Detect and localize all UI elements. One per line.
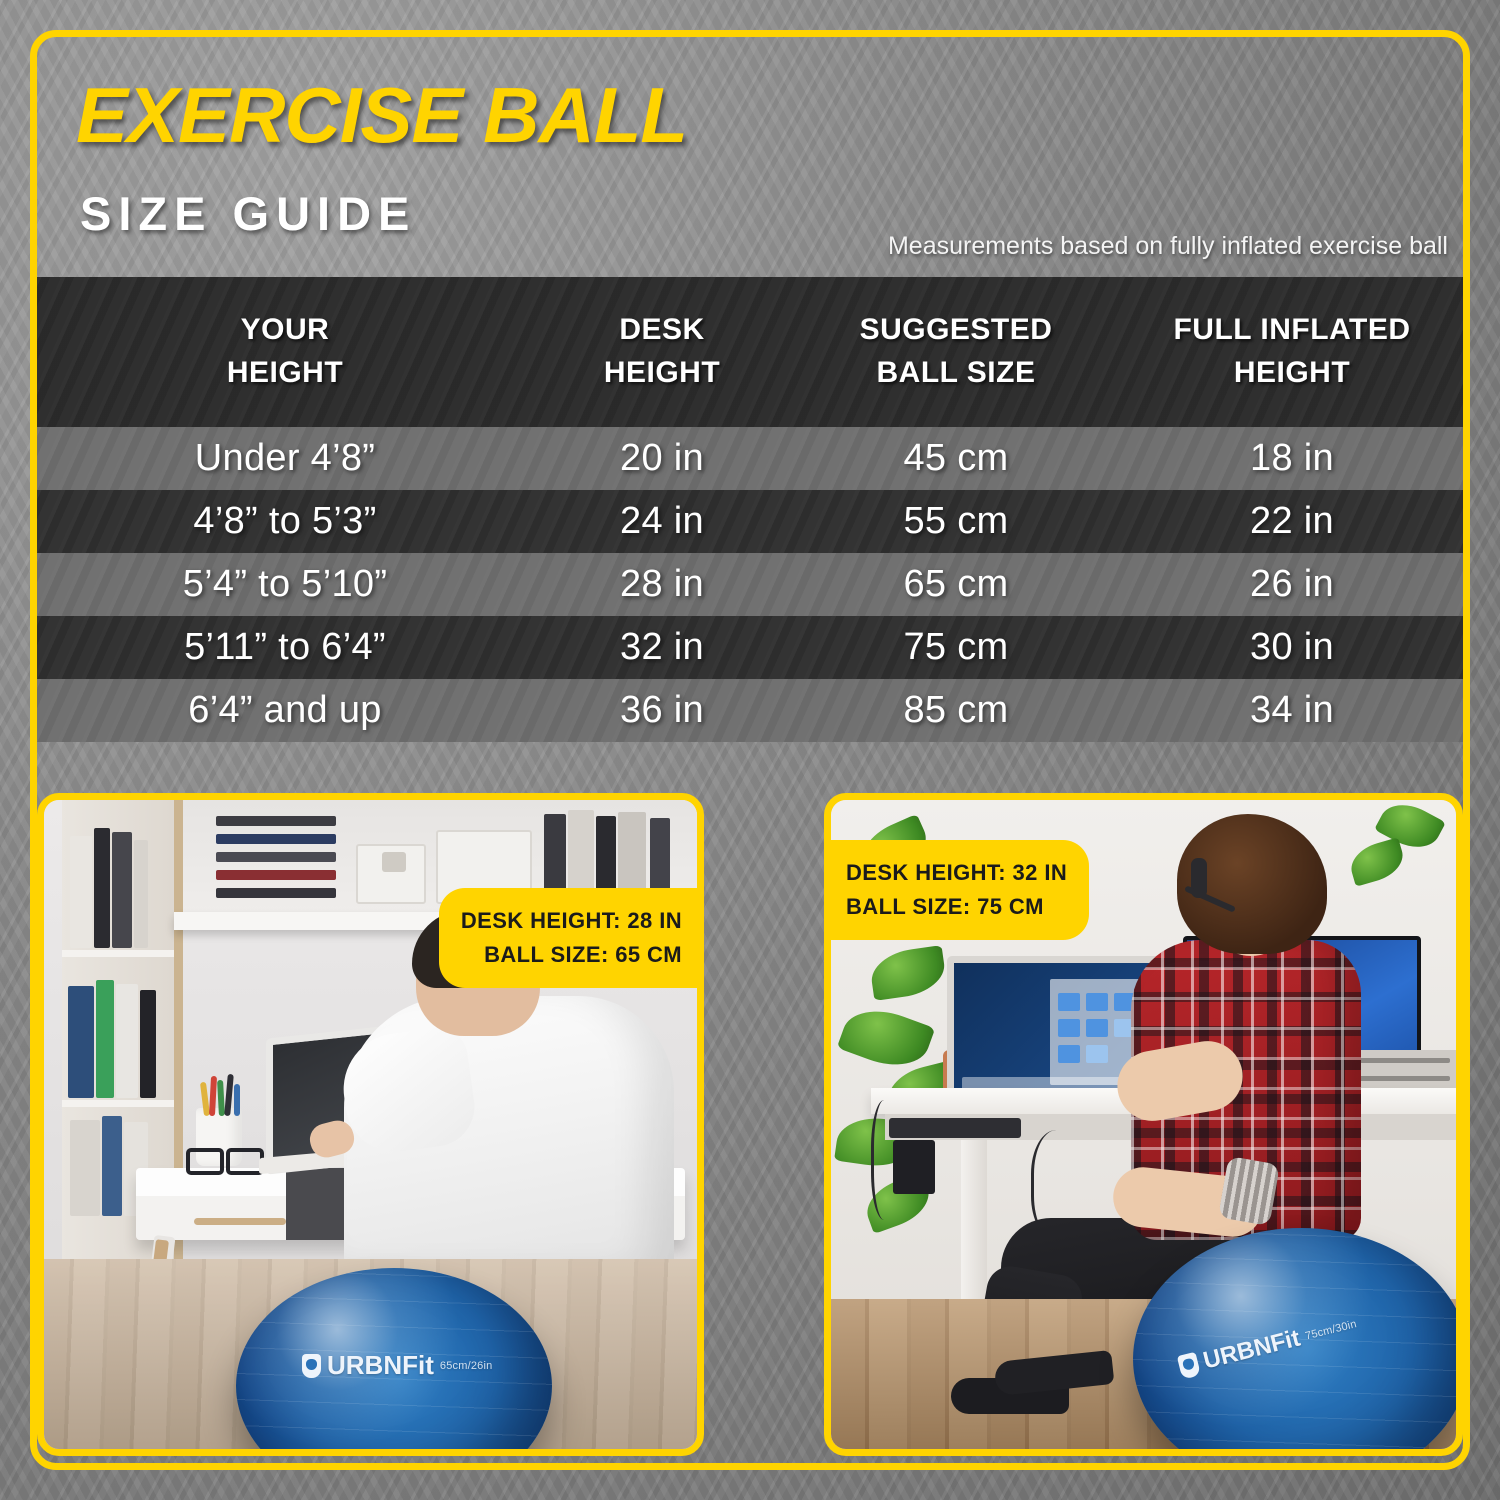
page-subtitle: SIZE GUIDE <box>80 186 416 241</box>
shield-icon <box>1177 1352 1201 1380</box>
callout-ball-size: BALL SIZE: 65 CM <box>461 938 682 972</box>
cell-ball-size: 85 cm <box>791 689 1121 732</box>
cell-your-height: 4’8” to 5’3” <box>37 500 533 543</box>
column-header-line1: SUGGESTED <box>791 309 1121 352</box>
cell-ball-size: 55 cm <box>791 500 1121 543</box>
callout-left: DESK HEIGHT: 28 IN BALL SIZE: 65 CM <box>439 888 704 988</box>
table-row: 6’4” and up 36 in 85 cm 34 in <box>37 679 1463 742</box>
ball-spec-text: 65cm/26in <box>440 1360 493 1372</box>
cell-desk-height: 24 in <box>533 500 791 543</box>
callout-ball-size: BALL SIZE: 75 CM <box>846 890 1067 924</box>
ball-spec-text: 75cm/30in <box>1304 1318 1358 1342</box>
ball-brand-text: URBNFit <box>327 1350 434 1381</box>
cell-your-height: 5’4” to 5’10” <box>37 563 533 606</box>
column-header-line1: DESK <box>533 309 791 352</box>
column-header-ball-size: SUGGESTED BALL SIZE <box>791 309 1121 394</box>
column-header-line2: BALL SIZE <box>791 352 1121 395</box>
table-row: 5’11” to 6’4” 32 in 75 cm 30 in <box>37 616 1463 679</box>
table-header-row: YOUR HEIGHT DESK HEIGHT SUGGESTED BALL S… <box>37 277 1463 427</box>
cell-desk-height: 28 in <box>533 563 791 606</box>
table-row: Under 4’8” 20 in 45 cm 18 in <box>37 427 1463 490</box>
cell-inflated-height: 30 in <box>1121 626 1463 669</box>
measurement-note: Measurements based on fully inflated exe… <box>888 232 1448 261</box>
cell-desk-height: 36 in <box>533 689 791 732</box>
cell-inflated-height: 18 in <box>1121 437 1463 480</box>
column-header-line1: YOUR <box>37 309 533 352</box>
column-header-line1: FULL INFLATED <box>1121 309 1463 352</box>
cell-inflated-height: 26 in <box>1121 563 1463 606</box>
ball-logo: URBNFit 75cm/30in <box>1176 1310 1360 1381</box>
column-header-desk-height: DESK HEIGHT <box>533 309 791 394</box>
cell-inflated-height: 34 in <box>1121 689 1463 732</box>
size-guide-table: YOUR HEIGHT DESK HEIGHT SUGGESTED BALL S… <box>37 277 1463 742</box>
callout-desk-height: DESK HEIGHT: 32 IN <box>846 856 1067 890</box>
column-header-line2: HEIGHT <box>37 352 533 395</box>
cell-ball-size: 75 cm <box>791 626 1121 669</box>
column-header-line2: HEIGHT <box>533 352 791 395</box>
column-header-your-height: YOUR HEIGHT <box>37 309 533 394</box>
photo-panel-right: URBNFit 75cm/30in DESK HEIGHT: 32 IN BAL… <box>824 793 1463 1456</box>
infographic-root: EXERCISE BALL SIZE GUIDE Measurements ba… <box>0 0 1500 1500</box>
cell-ball-size: 45 cm <box>791 437 1121 480</box>
cell-ball-size: 65 cm <box>791 563 1121 606</box>
table-row: 4’8” to 5’3” 24 in 55 cm 22 in <box>37 490 1463 553</box>
callout-desk-height: DESK HEIGHT: 28 IN <box>461 904 682 938</box>
table-row: 5’4” to 5’10” 28 in 65 cm 26 in <box>37 553 1463 616</box>
cell-your-height: 6’4” and up <box>37 689 533 732</box>
cell-desk-height: 20 in <box>533 437 791 480</box>
callout-right: DESK HEIGHT: 32 IN BALL SIZE: 75 CM <box>824 840 1089 940</box>
ball-brand-text: URBNFit <box>1201 1325 1303 1376</box>
page-title: EXERCISE BALL <box>76 76 687 154</box>
cell-your-height: Under 4’8” <box>37 437 533 480</box>
column-header-inflated-height: FULL INFLATED HEIGHT <box>1121 309 1463 394</box>
photo-gallery: URBNFit 65cm/26in DESK HEIGHT: 28 IN BAL… <box>37 793 1463 1456</box>
cell-your-height: 5’11” to 6’4” <box>37 626 533 669</box>
shield-icon <box>302 1354 321 1378</box>
column-header-line2: HEIGHT <box>1121 352 1463 395</box>
photo-panel-left: URBNFit 65cm/26in DESK HEIGHT: 28 IN BAL… <box>37 793 704 1456</box>
ball-logo: URBNFit 65cm/26in <box>302 1350 492 1381</box>
cell-desk-height: 32 in <box>533 626 791 669</box>
cell-inflated-height: 22 in <box>1121 500 1463 543</box>
